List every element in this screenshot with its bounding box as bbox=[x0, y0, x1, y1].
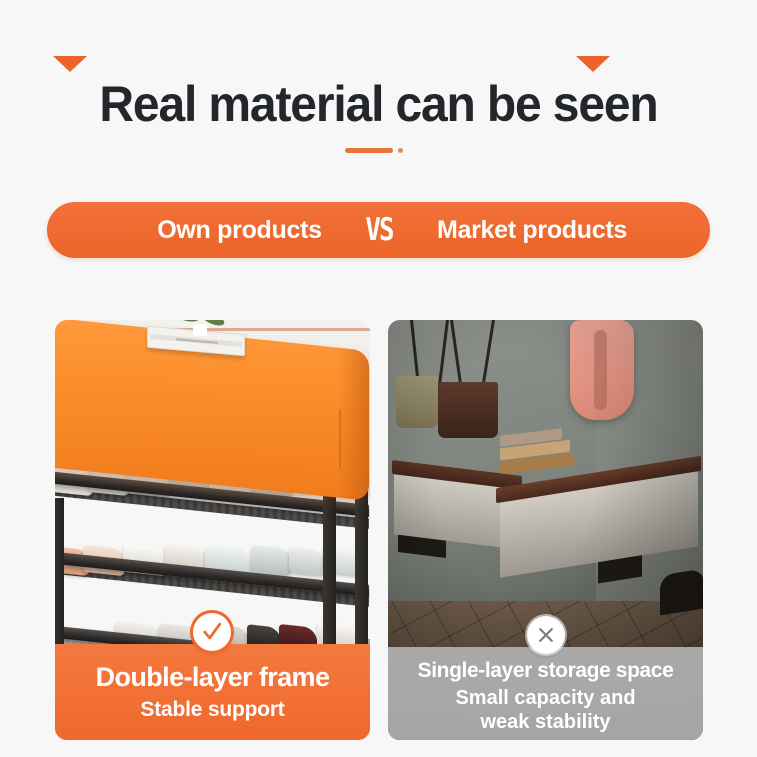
caption-band-own: Double-layer frame Stable support bbox=[55, 644, 370, 740]
title-divider bbox=[0, 146, 757, 156]
product-card-own[interactable]: Double-layer frame Stable support bbox=[55, 320, 370, 740]
caption-secondary-market-line1: Small capacity and bbox=[388, 686, 703, 710]
divider-dot bbox=[398, 148, 403, 153]
caption-primary-market: Single-layer storage space bbox=[388, 659, 703, 683]
banner-pointer-left bbox=[53, 56, 87, 72]
banner-label-market: Market products bbox=[382, 202, 682, 258]
caption-band-market: Single-layer storage space Small capacit… bbox=[388, 647, 703, 740]
caption-secondary-market-line2: weak stability bbox=[388, 710, 703, 734]
banner-pointer-right bbox=[576, 56, 610, 72]
caption-primary-own: Double-layer frame bbox=[55, 662, 370, 692]
check-circle-icon bbox=[193, 613, 231, 651]
page-title: Real material can be seen bbox=[15, 74, 742, 134]
cushion-seam bbox=[339, 408, 363, 474]
divider-bar bbox=[345, 148, 393, 153]
plant-decor bbox=[171, 320, 231, 338]
comparison-infographic: Real material can be seen Own products V… bbox=[0, 0, 757, 757]
caption-secondary-own: Stable support bbox=[55, 698, 370, 722]
rack-leg-right-a bbox=[323, 470, 336, 670]
x-circle-icon bbox=[527, 616, 565, 654]
banner-label-own: Own products bbox=[102, 202, 377, 258]
product-card-market[interactable]: Single-layer storage space Small capacit… bbox=[388, 320, 703, 740]
vs-banner: Own products VS Market products bbox=[47, 202, 710, 258]
